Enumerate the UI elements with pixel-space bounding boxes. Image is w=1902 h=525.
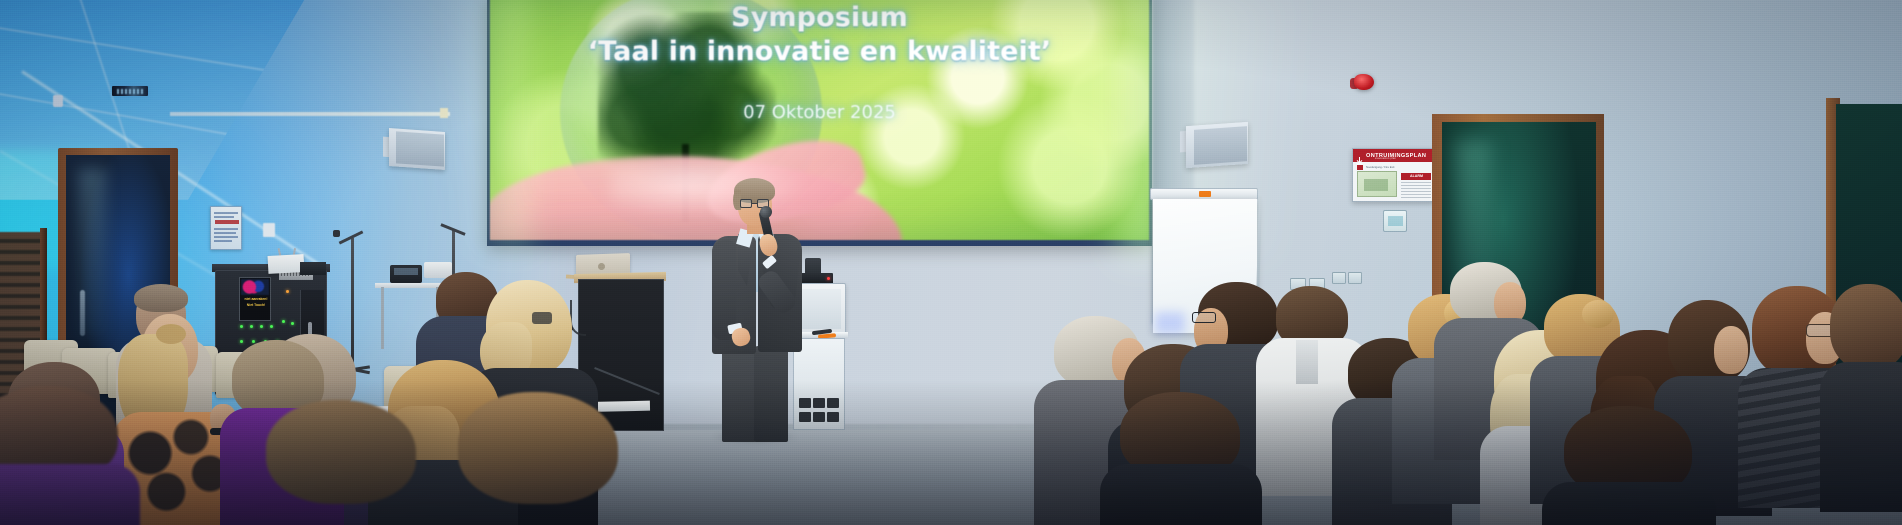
fire-alarm-strobe-icon [1354,74,1374,90]
evacuation-alarm-box [1401,173,1431,180]
mic-stand-clip [333,230,340,237]
av-display-line2: Niet Touch! [242,303,270,308]
mic-stand-pole [351,238,354,373]
left-wall-speaker-grille [396,131,444,166]
flipchart-blue-reflection [1155,312,1185,334]
status-led [282,320,285,323]
light-switch-3[interactable] [1332,272,1346,284]
laptop-logo-icon [598,263,605,270]
status-led [250,325,253,328]
status-led [240,340,243,343]
side-table-leg [381,287,384,349]
left-door-handle[interactable] [80,290,85,336]
cabinet-slot [827,398,839,408]
cabinet-slot [813,412,825,422]
status-led [291,322,294,325]
lectern-cable [570,300,586,336]
conference-phone-screen [394,268,418,275]
av-display-line1: niet aanraken! [242,297,270,302]
presenter-leg-right [754,346,788,442]
projection-screen: Symposium ‘Taal in innovatie en kwalitei… [490,0,1149,240]
smoke-detector-icon [53,95,63,107]
status-led [260,325,263,328]
evacuation-floor-map [1357,171,1397,197]
flipchart-logo-icon [1199,191,1211,197]
presenter [700,178,810,438]
status-led [240,325,243,328]
status-led [286,290,289,293]
wall-notice-poster [210,206,242,250]
light-switch-4[interactable] [1348,272,1362,284]
av-rack-display-graphic [241,279,269,295]
wall-switch-plate-left[interactable] [263,223,275,237]
fire-exit-icon [1357,165,1363,170]
side-table [375,283,445,288]
wall-cable-trunking [170,112,450,116]
down-arrow-icon [1356,152,1363,160]
status-led [252,340,255,343]
speaker-power-led [827,277,830,280]
evacuation-plan-sign: ONTRUIMINGSPLAN evacuation plan Nooduitg… [1352,148,1434,202]
exit-sign-icon [112,86,148,96]
evacuation-plan-caption: Nooduitgang / Fire Exit [1366,165,1394,169]
glasses-icon [1192,312,1216,323]
conference-photo-scene: Symposium ‘Taal in innovatie en kwalitei… [0,0,1902,525]
green-light-spill-left [440,0,530,250]
right-wall-speaker-grille [1194,126,1247,165]
cabinet-slot [827,412,839,422]
presenter-leg-left [722,346,756,442]
evacuation-plan-subtitle: evacuation plan [1375,157,1396,160]
evacuation-legend-table [1401,182,1431,198]
slide-title-line1: Symposium [490,2,1149,33]
device-box [300,262,326,275]
cabinet-slot [813,398,825,408]
paper-stack [268,254,305,274]
status-led [270,325,273,328]
wall-thermostat[interactable] [1383,210,1407,232]
